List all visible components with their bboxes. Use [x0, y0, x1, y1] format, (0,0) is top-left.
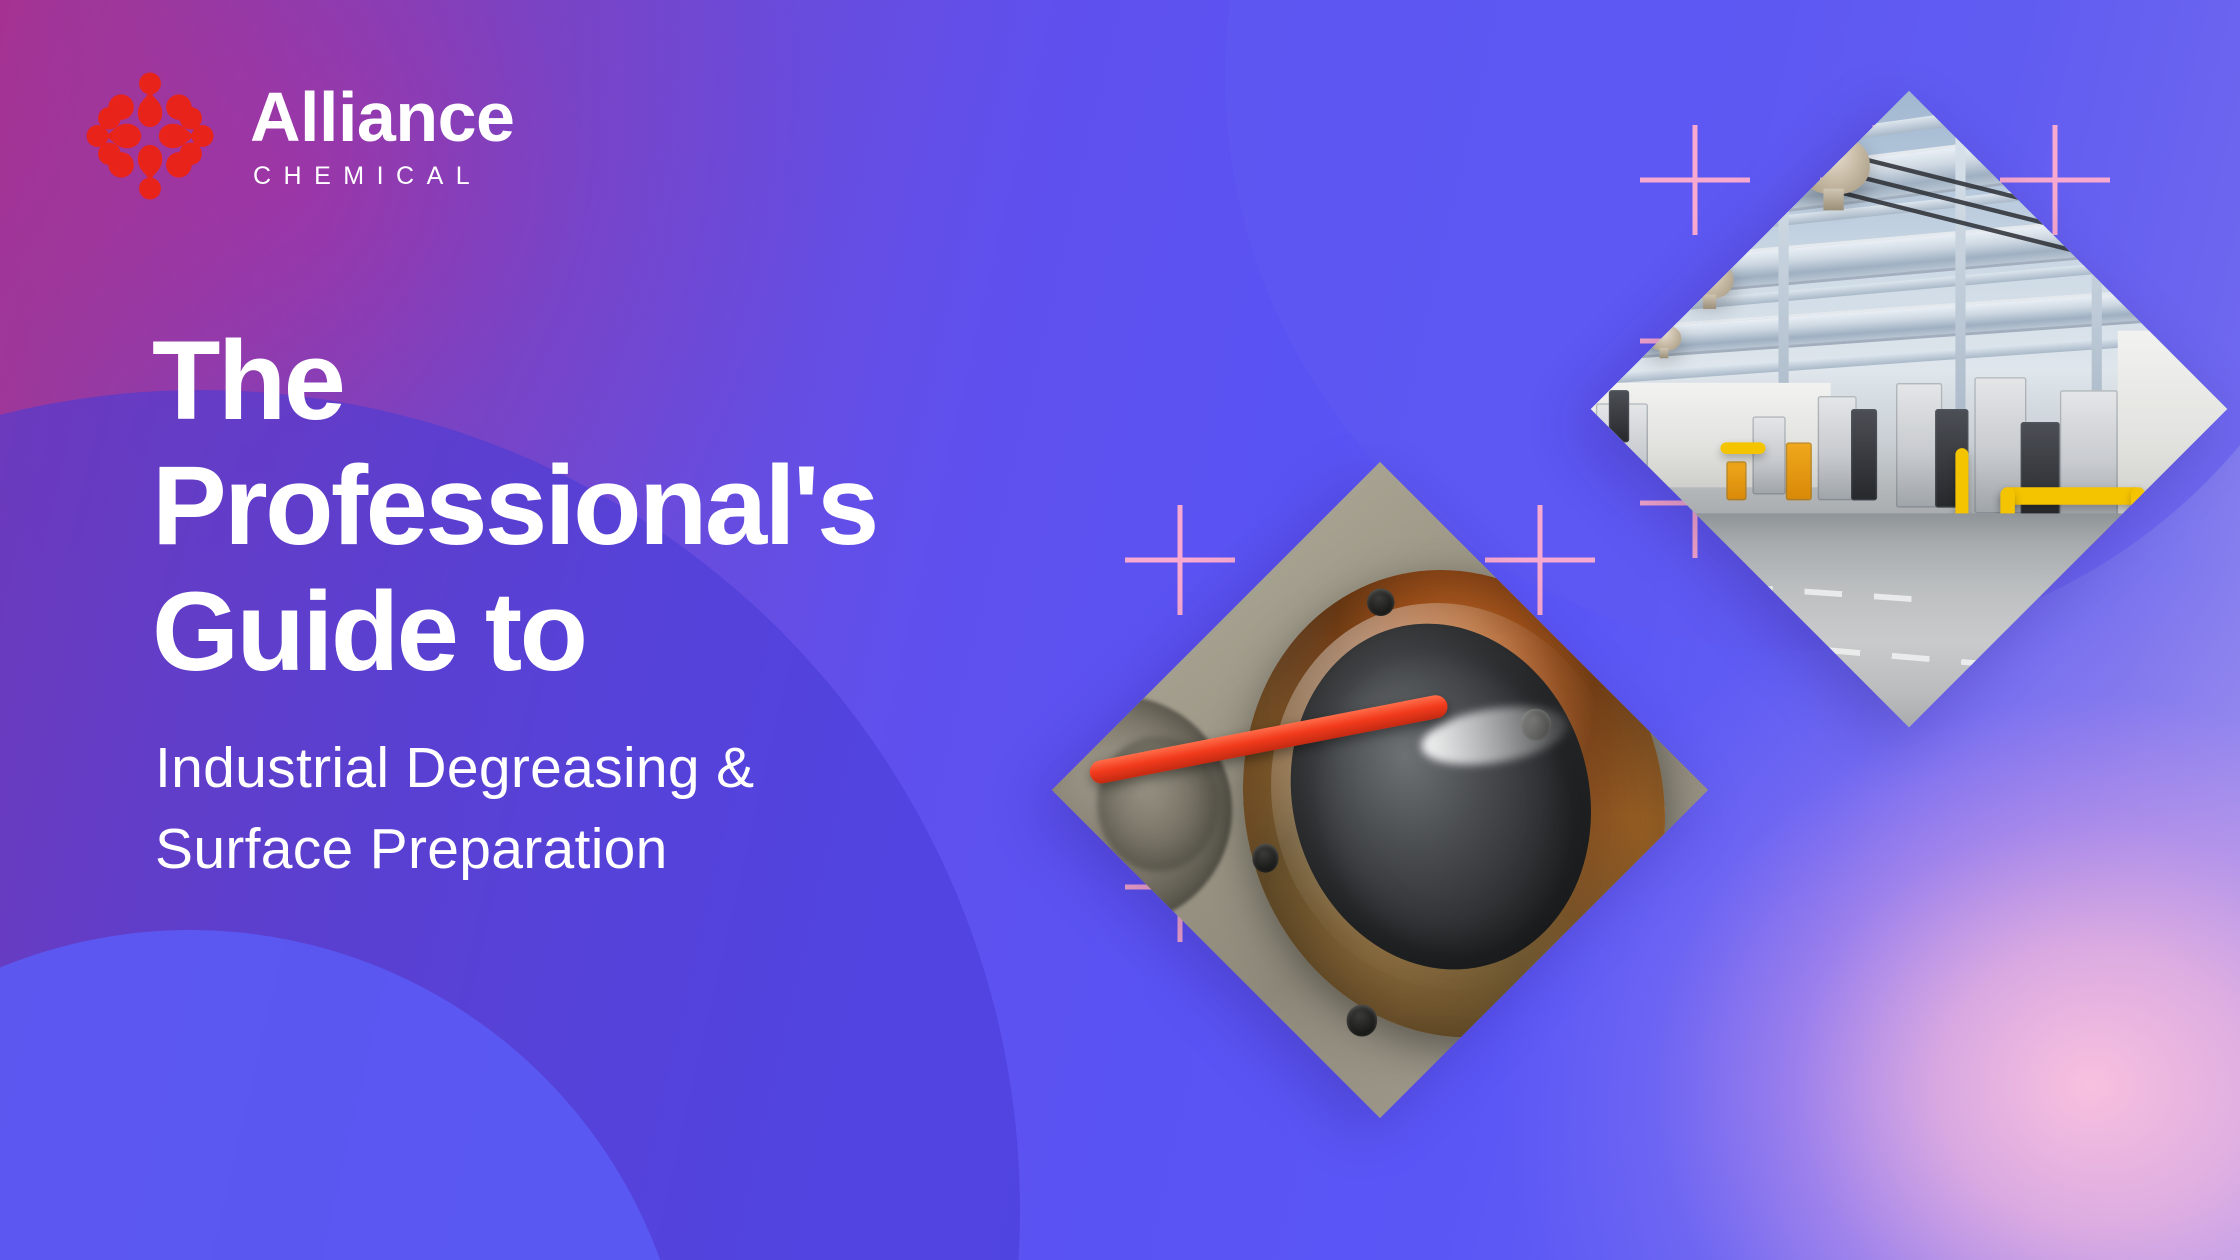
brand-tagline: CHEMICAL — [253, 162, 514, 191]
headline-line-2: Professional's — [152, 443, 1152, 568]
machine-unit — [1850, 409, 1876, 500]
alliance-molecule-icon — [76, 62, 224, 210]
brand-wordmark: Alliance CHEMICAL — [250, 82, 514, 191]
safety-rail — [2000, 487, 2144, 504]
hero-banner: Alliance CHEMICAL The Professional's Gui… — [0, 0, 2240, 1260]
machine-unit — [2020, 422, 2059, 520]
safety-rail — [1720, 442, 1766, 454]
machine-unit — [1752, 416, 1785, 494]
brand-logo[interactable]: Alliance CHEMICAL — [76, 62, 514, 210]
bolt-hole — [1252, 844, 1279, 872]
vertical-column — [1955, 109, 1965, 435]
bolt-hole — [1346, 1005, 1377, 1036]
headline-line-1: The — [152, 318, 1152, 443]
machine-unit — [1785, 442, 1811, 501]
machine-unit — [1726, 461, 1746, 500]
headline-line-3: Guide to — [152, 569, 1152, 694]
page-title: The Professional's Guide to — [152, 318, 1152, 694]
subhead-line-1: Industrial Degreasing & — [155, 728, 1135, 809]
page-subtitle: Industrial Degreasing & Surface Preparat… — [155, 728, 1135, 890]
subhead-line-2: Surface Preparation — [155, 809, 1135, 890]
brand-name: Alliance — [250, 82, 514, 152]
